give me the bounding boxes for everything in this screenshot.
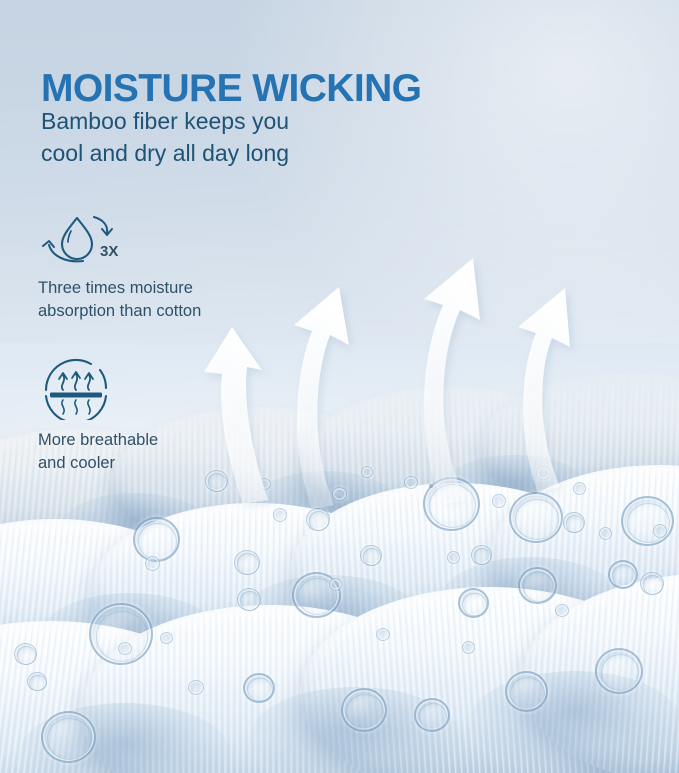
subtitle-line-2: cool and dry all day long bbox=[41, 137, 289, 169]
feature-breathable-caption: More breathable and cooler bbox=[38, 429, 158, 475]
moisture-wicking-poster: MOISTURE WICKING Bamboo fiber keeps you … bbox=[0, 0, 679, 773]
fabric-bar bbox=[50, 393, 102, 398]
feature-moisture-caption-line-2: absorption than cotton bbox=[38, 300, 201, 323]
feature-breathable-caption-line-2: and cooler bbox=[38, 452, 158, 475]
breathable-airflow-icon bbox=[38, 352, 128, 420]
badge-3x: 3X bbox=[100, 243, 118, 260]
subtitle-line-1: Bamboo fiber keeps you bbox=[41, 105, 289, 137]
feature-breathable: More breathable and cooler bbox=[38, 352, 158, 475]
water-drop-recycle-icon: 3X bbox=[38, 212, 138, 270]
subtitle: Bamboo fiber keeps you cool and dry all … bbox=[41, 105, 289, 169]
feature-moisture-caption: Three times moisture absorption than cot… bbox=[38, 277, 201, 323]
feature-moisture-absorption: 3X Three times moisture absorption than … bbox=[38, 212, 201, 323]
feature-breathable-caption-line-1: More breathable bbox=[38, 429, 158, 452]
feature-moisture-caption-line-1: Three times moisture bbox=[38, 277, 201, 300]
